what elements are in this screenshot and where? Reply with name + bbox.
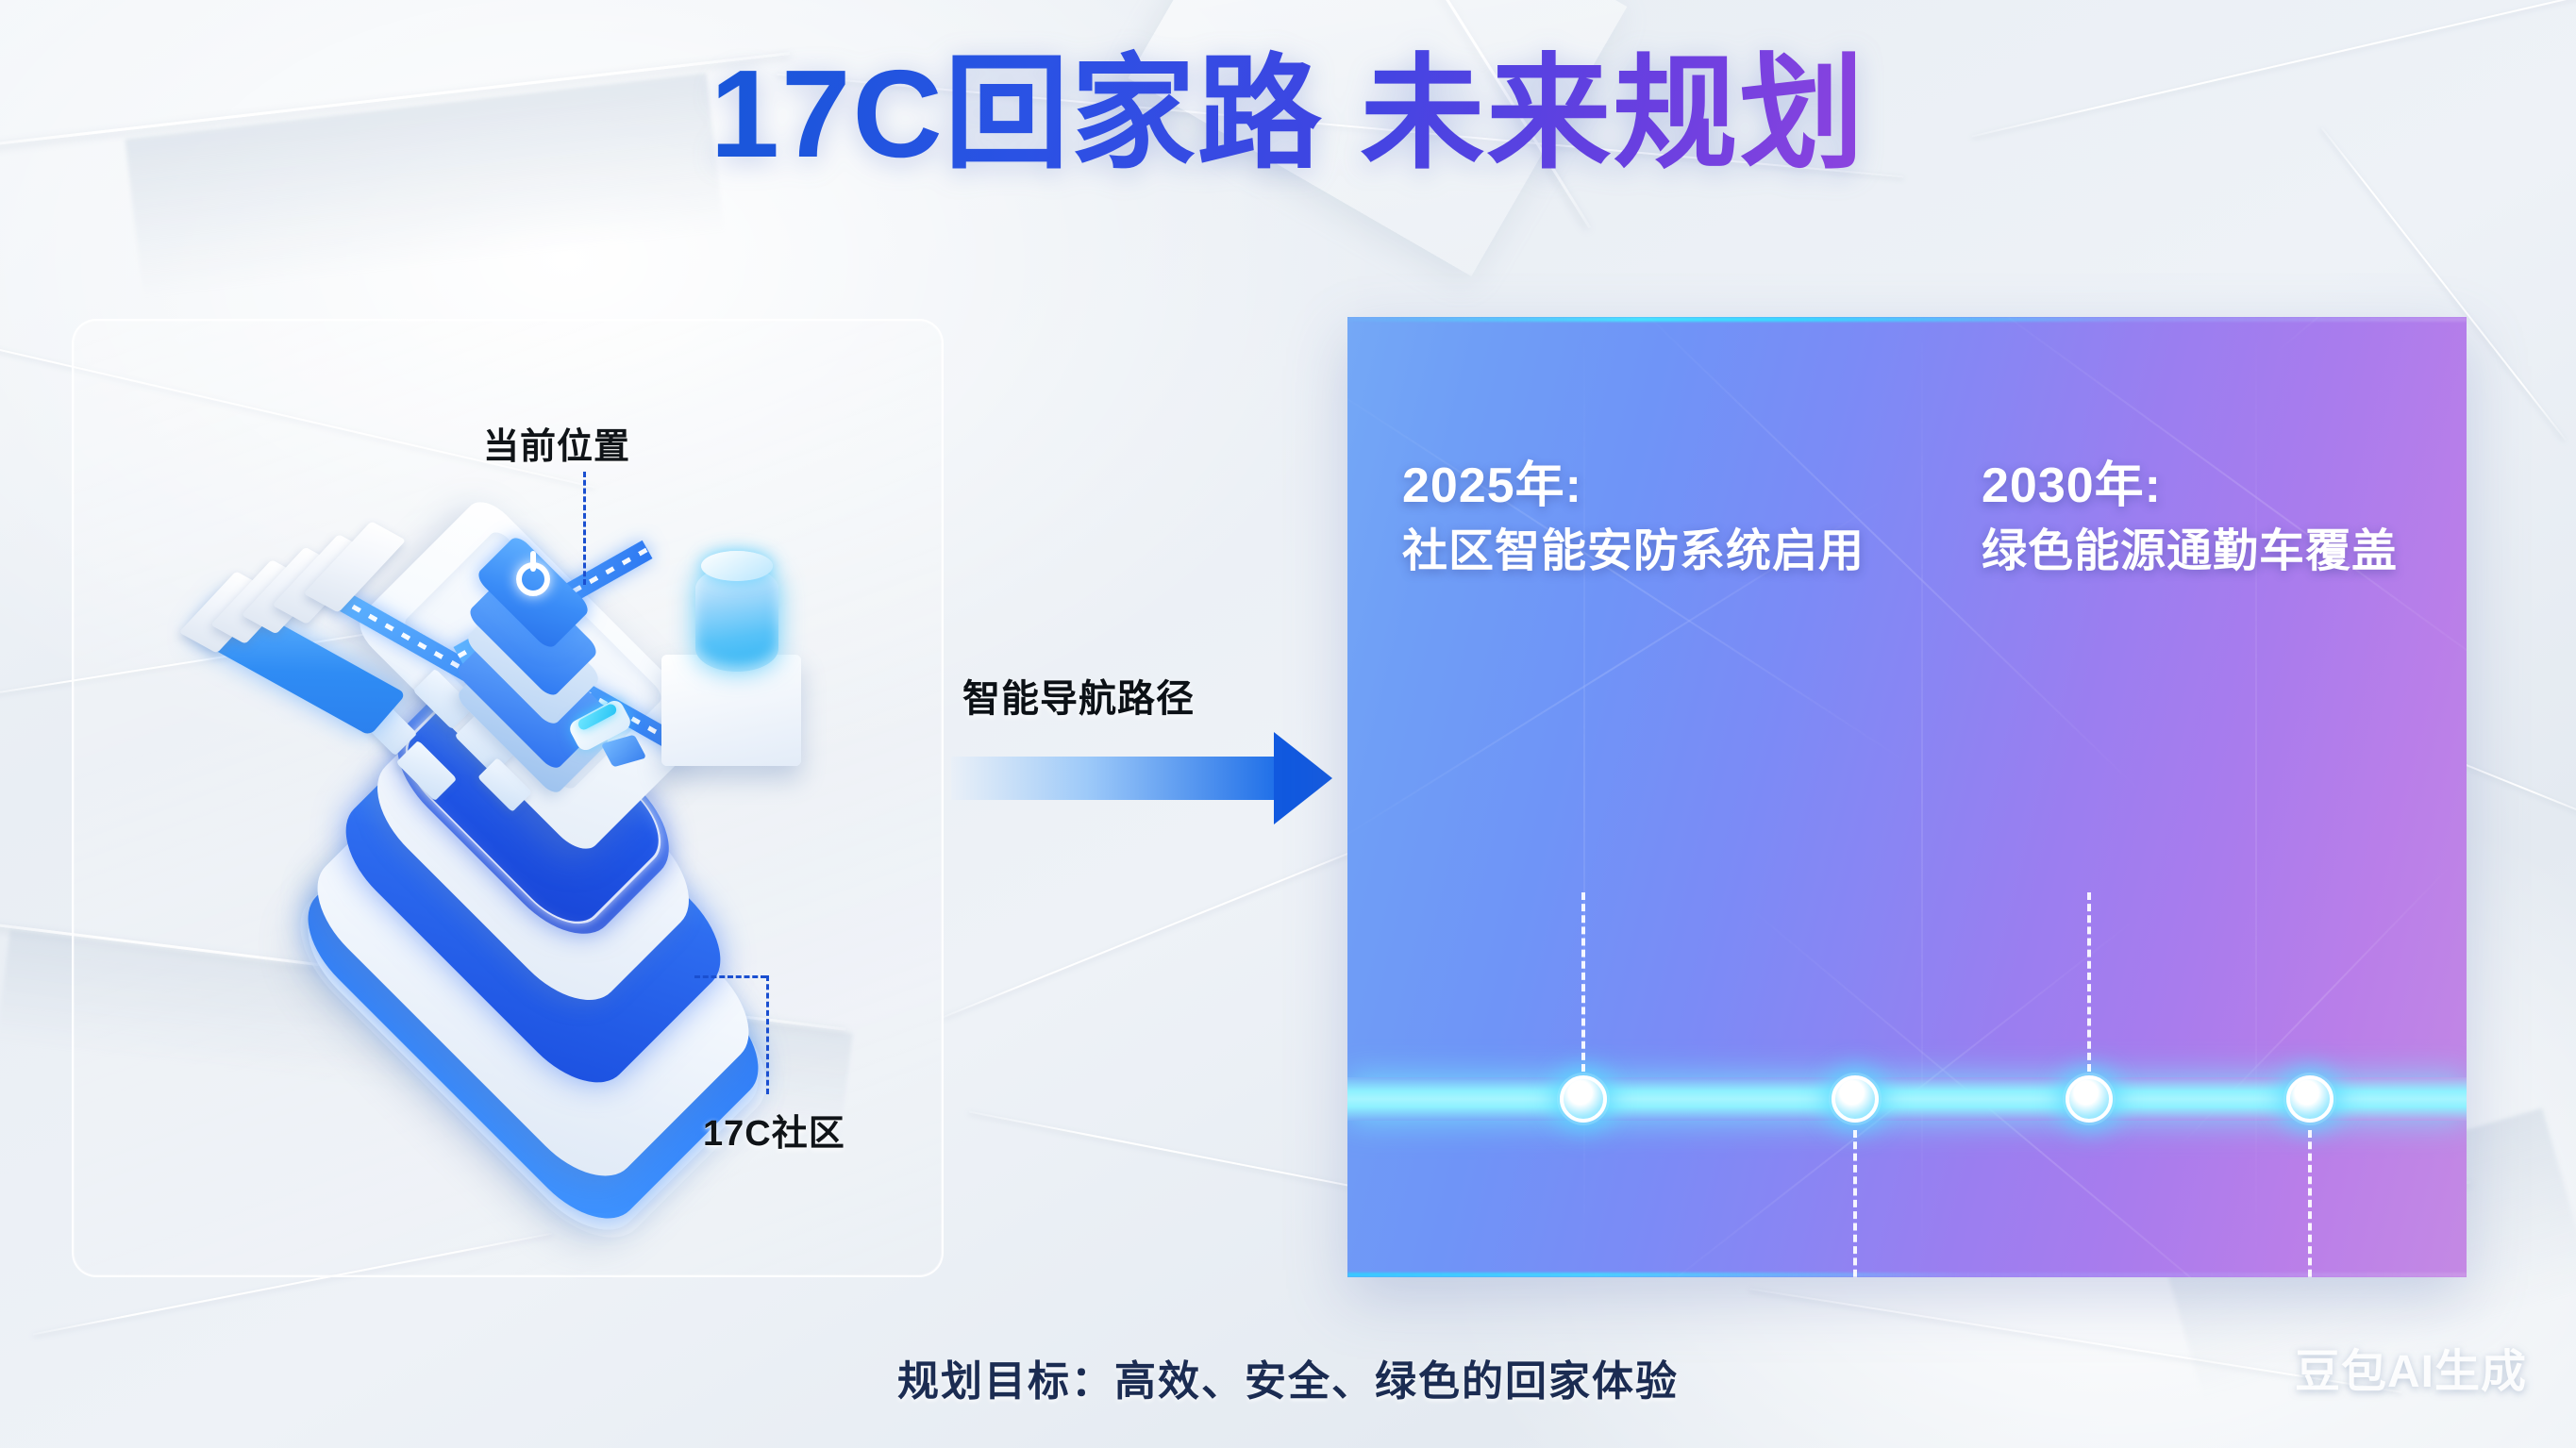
timeline-node-3[interactable] bbox=[2066, 1075, 2113, 1123]
timeline-tick-3 bbox=[2087, 892, 2091, 1072]
timeline-node-2[interactable] bbox=[1832, 1075, 1879, 1123]
timeline-event-3-year: 2030年: bbox=[1982, 453, 2398, 521]
timeline-event-1-year: 2025年: bbox=[1402, 453, 1865, 521]
callout-current-location: 当前位置 bbox=[483, 417, 630, 469]
page-title: 17C回家路 未来规划 bbox=[0, 42, 2576, 186]
power-icon-stem bbox=[530, 551, 536, 572]
timeline-tick-4 bbox=[2308, 1130, 2312, 1277]
leader-line-current-location bbox=[583, 472, 586, 585]
cylinder-tower-cap bbox=[701, 551, 773, 581]
infographic-stage: 17C回家路 未来规划 bbox=[0, 0, 2576, 1448]
navigation-arrow-head bbox=[1274, 732, 1332, 824]
isometric-community-scene bbox=[99, 472, 967, 1189]
timeline-tick-1 bbox=[1581, 892, 1585, 1072]
timeline-node-4[interactable] bbox=[2286, 1075, 2333, 1123]
timeline-event-3-text: 绿色能源通勤车覆盖 bbox=[1982, 521, 2398, 583]
panel-bottom-glow bbox=[1347, 1273, 2467, 1277]
arrow-label-navigation: 智能导航路径 bbox=[962, 668, 1195, 723]
timeline-panel: 2025年: 社区智能安防系统启用 2030年: 绿色能源通勤车覆盖 2030年… bbox=[1347, 317, 2467, 1277]
panel-top-glow bbox=[1347, 317, 2467, 322]
watermark-logo: 豆包AI生成 bbox=[2295, 1334, 2527, 1400]
footer-goal: 规划目标：高效、安全、绿色的回家体验 bbox=[0, 1347, 2576, 1407]
timeline-event-1-text: 社区智能安防系统启用 bbox=[1402, 521, 1865, 583]
leader-line-community-horizontal bbox=[694, 975, 766, 978]
timeline-event-1: 2025年: 社区智能安防系统启用 bbox=[1402, 453, 1865, 583]
timeline-node-1[interactable] bbox=[1560, 1075, 1607, 1123]
navigation-arrow-shaft bbox=[951, 757, 1277, 800]
timeline-tick-2 bbox=[1853, 1130, 1857, 1277]
leader-line-community-vertical bbox=[766, 975, 769, 1094]
timeline-event-3: 2030年: 绿色能源通勤车覆盖 bbox=[1982, 453, 2398, 583]
callout-community: 17C社区 bbox=[703, 1104, 845, 1156]
cylinder-tower-body bbox=[695, 566, 778, 672]
